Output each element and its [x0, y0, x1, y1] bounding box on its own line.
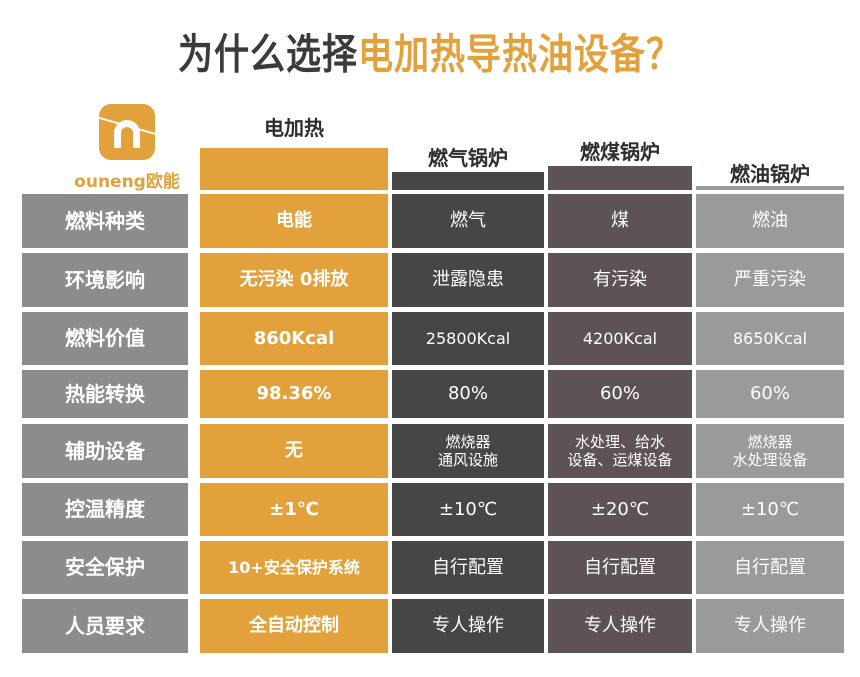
table-cell-coal-6: ±20℃	[548, 483, 692, 536]
row-label-4: 热能转换	[22, 370, 188, 418]
column-header-coal: 燃煤锅炉	[548, 136, 692, 165]
table-cell-gas-6: ±10℃	[392, 483, 544, 536]
row-label-8: 人员要求	[22, 599, 188, 653]
table-cell-oil-6: ±10℃	[696, 483, 844, 536]
table-cell-electric-8: 全自动控制	[200, 599, 388, 653]
row-label-6: 控温精度	[22, 483, 188, 536]
table-cell-coal-8: 专人操作	[548, 599, 692, 653]
table-cell-coal-3: 4200Kcal	[548, 312, 692, 365]
table-cell-electric-6: ±1℃	[200, 483, 388, 536]
row-label-5: 辅助设备	[22, 424, 188, 478]
table-cell-coal-5: 水处理、给水设备、运煤设备	[548, 424, 692, 478]
table-cell-gas-4: 80%	[392, 370, 544, 418]
table-cell-oil-2: 严重污染	[696, 253, 844, 307]
table-cell-oil-7: 自行配置	[696, 541, 844, 594]
table-cell-oil-5: 燃烧器水处理设备	[696, 424, 844, 478]
table-cell-electric-5: 无	[200, 424, 388, 478]
row-label-2: 环境影响	[22, 253, 188, 307]
infographic-page: 为什么选择电加热导热油设备？ ouneng欧能 电加热燃气锅炉燃煤锅炉燃油锅炉燃…	[0, 0, 860, 677]
table-cell-oil-8: 专人操作	[696, 599, 844, 653]
comparison-table: 电加热燃气锅炉燃煤锅炉燃油锅炉燃料种类电能燃气煤燃油环境影响无污染 0排放泄露隐…	[0, 0, 860, 677]
table-cell-gas-2: 泄露隐患	[392, 253, 544, 307]
column-header-oil: 燃油锅炉	[690, 158, 850, 187]
table-cell-gas-7: 自行配置	[392, 541, 544, 594]
table-cell-coal-4: 60%	[548, 370, 692, 418]
table-cell-electric-1: 电能	[200, 194, 388, 248]
table-cell-oil-4: 60%	[696, 370, 844, 418]
column-header-strip-oil	[696, 186, 844, 190]
row-label-7: 安全保护	[22, 541, 188, 594]
table-cell-electric-3: 860Kcal	[200, 312, 388, 365]
table-cell-gas-5: 燃烧器通风设施	[392, 424, 544, 478]
column-header-strip-coal	[548, 166, 692, 190]
table-cell-coal-1: 煤	[548, 194, 692, 248]
column-header-strip-electric	[200, 148, 388, 190]
table-cell-gas-8: 专人操作	[392, 599, 544, 653]
table-cell-coal-7: 自行配置	[548, 541, 692, 594]
row-label-3: 燃料价值	[22, 312, 188, 365]
column-header-electric: 电加热	[200, 112, 388, 141]
row-label-1: 燃料种类	[22, 194, 188, 248]
table-cell-gas-3: 25800Kcal	[392, 312, 544, 365]
table-cell-oil-1: 燃油	[696, 194, 844, 248]
column-header-strip-gas	[392, 172, 544, 190]
table-cell-electric-7: 10+安全保护系统	[200, 541, 388, 594]
table-cell-gas-1: 燃气	[392, 194, 544, 248]
table-cell-coal-2: 有污染	[548, 253, 692, 307]
table-cell-electric-2: 无污染 0排放	[200, 253, 388, 307]
column-header-gas: 燃气锅炉	[392, 142, 544, 171]
table-cell-electric-4: 98.36%	[200, 370, 388, 418]
table-cell-oil-3: 8650Kcal	[696, 312, 844, 365]
